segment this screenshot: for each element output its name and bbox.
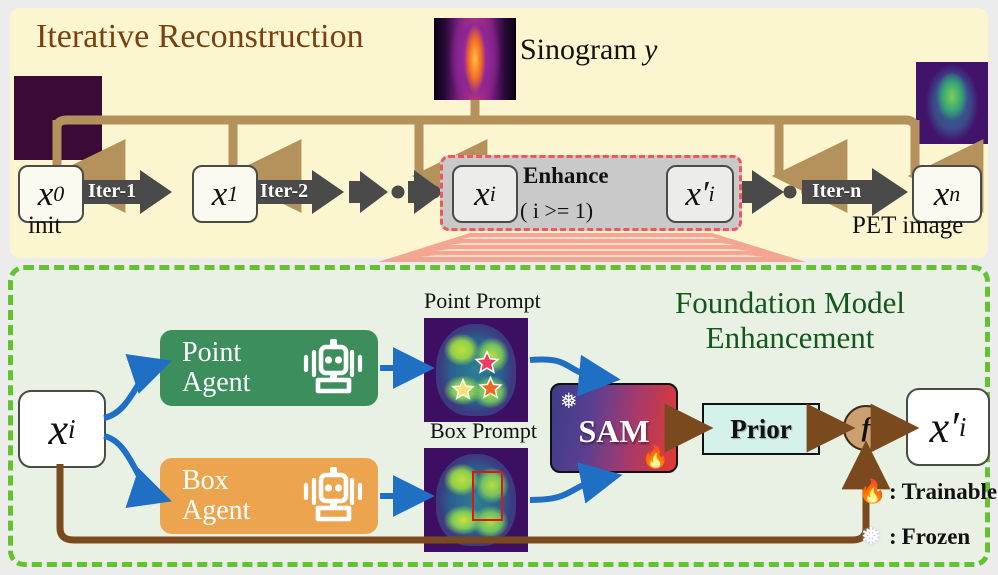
point-agent-line2: Agent — [182, 368, 250, 398]
box-prompt-label: Box Prompt — [430, 418, 537, 444]
snowflake-icon: ❅ — [858, 524, 884, 550]
legend-trainable: 🔥 : Trainable — [858, 478, 997, 505]
node-xi-input: xi — [18, 390, 106, 468]
box-prompt-rectangle — [472, 471, 503, 521]
point-agent-label: Point Agent — [182, 338, 250, 398]
panel-title-foundation-model-enhancement: Foundation Model Enhancement — [640, 286, 940, 355]
iteration-label-1: Iter-1 — [88, 180, 136, 203]
legend-trainable-label: Trainable — [902, 479, 997, 505]
node-xi-base: x — [474, 174, 490, 214]
sinogram-thumbnail — [434, 18, 516, 100]
init-label: init — [28, 212, 61, 240]
node-xi-prime-output-base: x′ — [930, 402, 959, 453]
sinogram-label: Sinogram y — [520, 33, 658, 67]
robot-icon — [302, 337, 364, 400]
snowflake-icon: ❅ — [560, 389, 578, 414]
sinogram-label-text: Sinogram — [520, 33, 637, 66]
node-x1-base: x — [212, 174, 228, 214]
initial-image-thumbnail — [14, 76, 102, 160]
node-xn-base: x — [934, 174, 950, 214]
box-agent-line1: Box — [182, 466, 250, 496]
legend-frozen: ❅ : Frozen — [858, 524, 970, 550]
fm-title-line2: Enhancement — [640, 321, 940, 356]
node-xn-sub: n — [949, 181, 960, 207]
node-x1-sub: 1 — [227, 181, 238, 207]
prior-box: Prior — [702, 403, 820, 455]
enhance-condition-label: ( i >= 1) — [520, 198, 593, 224]
pet-image-thumbnail — [916, 62, 988, 144]
sam-module[interactable]: ❅ SAM 🔥 — [550, 383, 678, 473]
box-prompt-thumbnail — [424, 448, 528, 552]
node-xi-prime-sub: i — [709, 181, 715, 207]
box-agent-box[interactable]: Box Agent — [160, 458, 378, 534]
node-xi-input-sub: i — [68, 414, 76, 445]
iteration-label-n: Iter-n — [812, 180, 861, 203]
box-agent-line2: Agent — [182, 496, 250, 526]
panel-title-iterative-reconstruction: Iterative Reconstruction — [36, 18, 364, 56]
node-xi-input-base: x — [48, 404, 68, 455]
pet-image-label: PET image — [852, 212, 963, 240]
robot-icon — [302, 465, 364, 528]
flame-icon: 🔥 — [858, 478, 884, 505]
flame-icon: 🔥 — [642, 444, 669, 470]
diagram-canvas: Iterative Reconstruction Sinogram y — [0, 0, 998, 575]
legend-trainable-separator: : — [889, 479, 897, 505]
node-xi-prime-output: x′i — [906, 388, 990, 466]
point-prompt-label: Point Prompt — [424, 288, 541, 314]
legend-frozen-label: Frozen — [902, 524, 971, 550]
fusion-function-node: f — [843, 405, 889, 451]
node-x0-sub: 0 — [53, 181, 64, 207]
box-agent-label: Box Agent — [182, 466, 250, 526]
point-prompt-thumbnail — [424, 318, 528, 422]
node-xi-prime: x′i — [666, 165, 734, 223]
legend-frozen-separator: : — [889, 524, 897, 550]
iteration-label-2: Iter-2 — [260, 180, 308, 203]
node-x1: x1 — [192, 165, 258, 223]
sinogram-symbol: y — [644, 33, 657, 66]
point-agent-line1: Point — [182, 338, 250, 368]
node-xi: xi — [452, 165, 518, 223]
node-xi-prime-output-sub: i — [959, 412, 967, 443]
point-agent-box[interactable]: Point Agent — [160, 330, 378, 406]
node-x0-base: x — [38, 174, 54, 214]
fm-title-line1: Foundation Model — [640, 286, 940, 321]
node-xi-prime-base: x′ — [685, 174, 708, 214]
node-xi-sub: i — [490, 181, 496, 207]
enhance-label: Enhance — [523, 163, 609, 189]
